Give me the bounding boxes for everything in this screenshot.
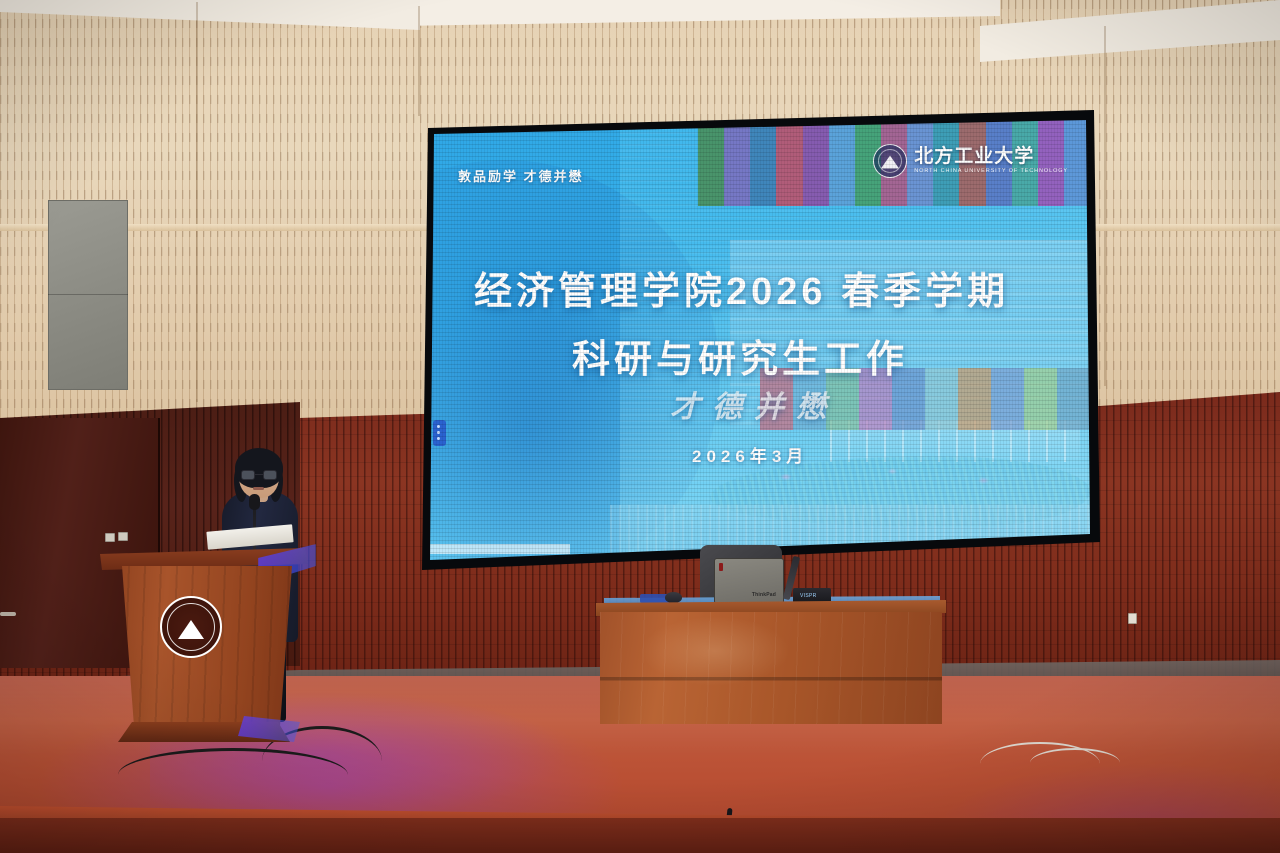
slide-title-line2: 科研与研究生工作: [572, 328, 1090, 383]
wall-seam: [196, 2, 198, 402]
slide-motto: 敦品励学 才德并懋: [458, 166, 584, 185]
light-switch-plate[interactable]: [118, 532, 128, 541]
desk-light-sheen: [640, 616, 790, 686]
slide-university-logo: 北方工业大学 NORTH CHINA UNIVERSITY OF TECHNOL…: [873, 144, 1068, 178]
wall-seam: [1104, 26, 1106, 386]
mosaic-tile: [724, 120, 750, 206]
wall-vent-divider: [48, 294, 128, 295]
university-seal-icon: [873, 144, 907, 178]
lecture-hall-scene: 敦品励学 才德并懋 北方工业大学 NORTH CHINA UNIVERSITY …: [0, 0, 1280, 853]
speaker-hair: [235, 448, 283, 488]
slide-calligraphy: 才德并懋: [670, 382, 838, 426]
lectern-university-emblem: [160, 596, 222, 658]
wall-vent-panel: [48, 200, 128, 390]
door-handle[interactable]: [0, 612, 16, 616]
computer-mouse[interactable]: [665, 592, 682, 603]
laptop-brand-label: ThinkPad: [752, 592, 776, 598]
mosaic-tile: [829, 120, 855, 206]
document-camera-label: VISPR: [800, 593, 817, 599]
wall-seam: [418, 6, 420, 116]
mountain-seal-icon: [178, 620, 204, 639]
mosaic-tile: [698, 120, 724, 206]
stage-front-face: [0, 818, 1280, 853]
mosaic-tile: [803, 120, 829, 206]
slide-date: 2026年3月: [692, 442, 808, 467]
wall-outlet-plate: [1128, 613, 1137, 624]
loose-white-cable-2: [1030, 748, 1120, 778]
screen-bottom-highlight: [430, 544, 570, 554]
screen-menu-icon[interactable]: [433, 420, 446, 446]
laptop-hinge-badge: [719, 563, 723, 571]
speaker-glasses: [241, 470, 277, 480]
laptop[interactable]: ThinkPad: [714, 558, 784, 604]
mosaic-tile: [750, 120, 776, 206]
led-screen[interactable]: 敦品励学 才德并懋 北方工业大学 NORTH CHINA UNIVERSITY …: [430, 120, 1090, 560]
university-name-en: NORTH CHINA UNIVERSITY OF TECHNOLOGY: [914, 169, 1068, 175]
university-name-cn: 北方工业大学: [914, 147, 1068, 166]
microphone-head: [249, 494, 260, 510]
slide-title-line1: 经济管理学院2026 春季学期: [474, 260, 1074, 315]
speaker-mouth: [253, 487, 264, 490]
mosaic-tile: [776, 120, 802, 206]
light-switch-plate[interactable]: [105, 533, 115, 542]
